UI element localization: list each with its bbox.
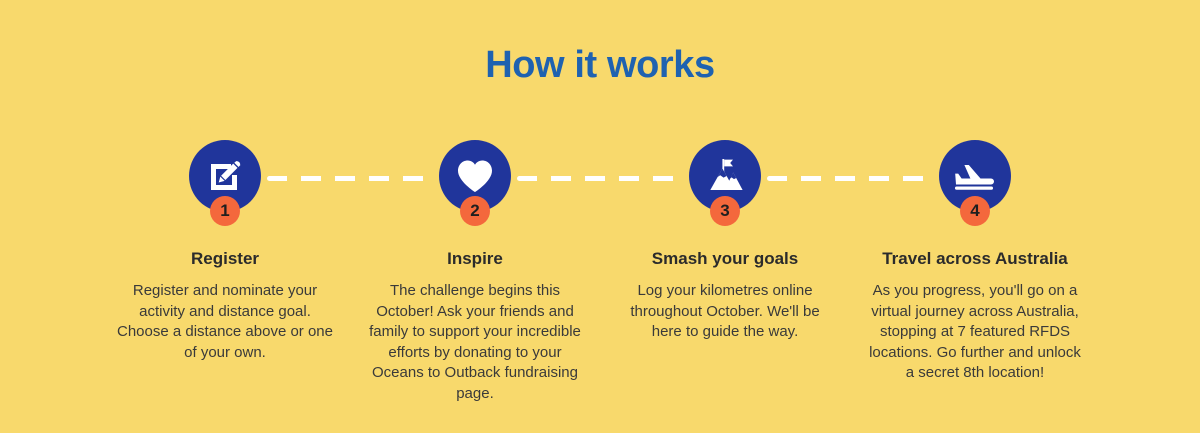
step-description: As you progress, you'll go on a virtual … (865, 281, 1085, 384)
step-number-badge: 2 (460, 196, 490, 226)
step-description: Log your kilometres online throughout Oc… (615, 281, 835, 343)
step-description: The challenge begins this October! Ask y… (365, 281, 585, 404)
step-description: Register and nominate your activity and … (115, 281, 335, 363)
step-item-inspire: 2 Inspire The challenge begins this Octo… (350, 140, 600, 404)
airplane-takeoff-icon (954, 161, 996, 191)
heart-icon (456, 159, 494, 193)
step-icon-wrap: 2 (439, 140, 511, 212)
step-icon-wrap: 1 (189, 140, 261, 212)
mountain-flag-icon (706, 158, 744, 194)
step-title: Travel across Australia (882, 248, 1068, 270)
step-number-badge: 3 (710, 196, 740, 226)
step-icon-wrap: 3 (689, 140, 761, 212)
pencil-edit-icon (207, 158, 243, 194)
page-title: How it works (0, 44, 1200, 87)
step-number-badge: 4 (960, 196, 990, 226)
step-item-smash-your-goals: 3 Smash your goals Log your kilometres o… (600, 140, 850, 343)
step-item-register: 1 Register Register and nominate your ac… (100, 140, 350, 363)
step-title: Inspire (447, 248, 503, 270)
how-it-works-section: How it works 1 Register (0, 0, 1200, 433)
step-icon-wrap: 4 (939, 140, 1011, 212)
steps-list: 1 Register Register and nominate your ac… (100, 140, 1100, 404)
step-title: Smash your goals (652, 248, 798, 270)
step-item-travel-across-australia: 4 Travel across Australia As you progres… (850, 140, 1100, 384)
step-title: Register (191, 248, 259, 270)
step-number-badge: 1 (210, 196, 240, 226)
